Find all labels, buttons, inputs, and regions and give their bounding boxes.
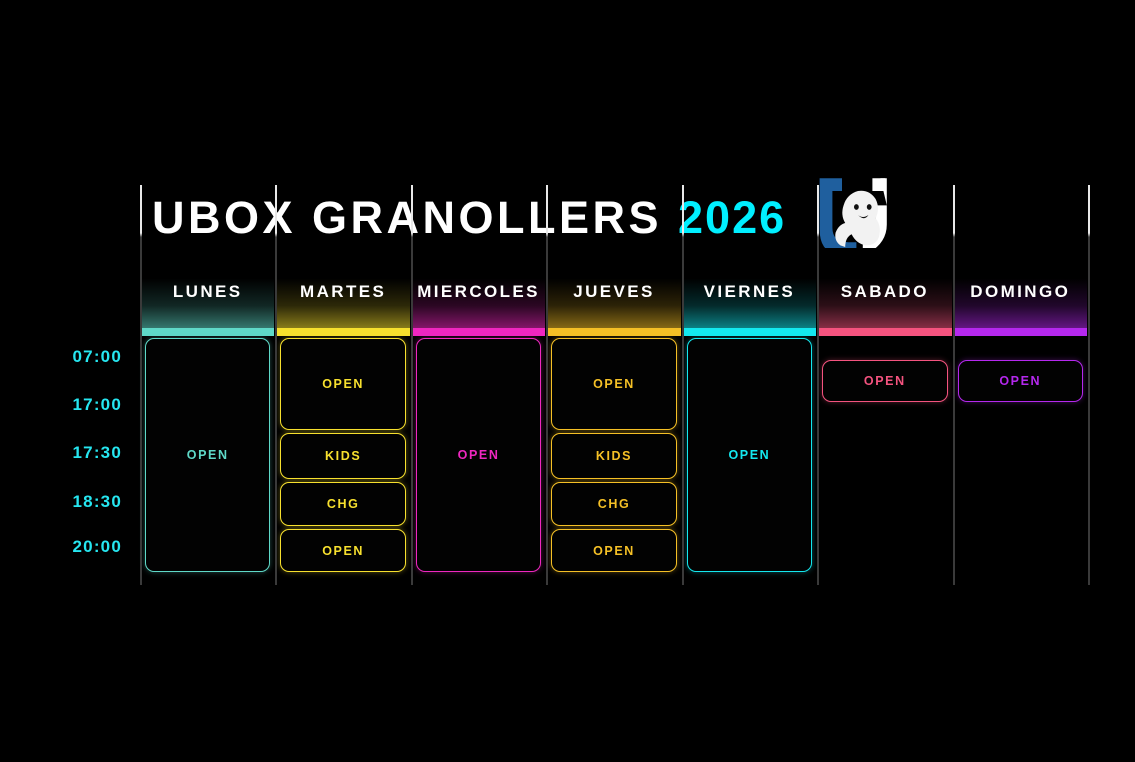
day-header-label: VIERNES	[704, 282, 795, 302]
column-separator	[1088, 185, 1090, 585]
day-header-label: JUEVES	[573, 282, 655, 302]
day-header-lunes[interactable]: LUNES	[140, 248, 275, 336]
column-separator	[817, 185, 819, 585]
schedule-slot-label: OPEN	[593, 544, 635, 558]
schedule-slot[interactable]: CHG	[551, 482, 676, 526]
day-color-bar	[954, 328, 1087, 336]
day-color-bar	[276, 328, 409, 336]
schedule-slot[interactable]: KIDS	[280, 433, 405, 479]
schedule-slot[interactable]: OPEN	[145, 338, 270, 572]
day-header-domingo[interactable]: DOMINGO	[953, 248, 1088, 336]
schedule-slot[interactable]: OPEN	[416, 338, 541, 572]
schedule-slot-label: OPEN	[187, 448, 229, 462]
time-label: 07:00	[0, 348, 122, 365]
ubox-gorilla-logo-icon	[810, 175, 890, 259]
time-label: 17:00	[0, 396, 122, 413]
schedule-slot-label: KIDS	[596, 449, 632, 463]
day-column-jueves: OPENKIDSCHGOPEN	[546, 338, 681, 572]
day-header-row: LUNESMARTESMIERCOLESJUEVESVIERNESSABADOD…	[140, 248, 1088, 336]
day-column-domingo: OPEN	[953, 338, 1088, 572]
schedule-slot[interactable]: OPEN	[280, 338, 405, 430]
schedule-slot[interactable]: OPEN	[687, 338, 812, 572]
day-column-viernes: OPEN	[682, 338, 817, 572]
schedule-slot[interactable]: OPEN	[280, 529, 405, 572]
day-header-label: DOMINGO	[970, 282, 1070, 302]
day-header-label: MIERCOLES	[417, 282, 540, 302]
day-color-bar	[683, 328, 816, 336]
day-header-viernes[interactable]: VIERNES	[682, 248, 817, 336]
day-column-martes: OPENKIDSCHGOPEN	[275, 338, 410, 572]
weekly-schedule-grid: LUNESMARTESMIERCOLESJUEVESVIERNESSABADOD…	[140, 248, 1088, 585]
page-title-main: UBOX GRANOLLERS	[152, 192, 662, 243]
column-separator	[546, 185, 548, 585]
page-title-year: 2026	[678, 192, 786, 243]
schedule-slot-label: OPEN	[322, 544, 364, 558]
day-color-bar	[412, 328, 545, 336]
schedule-slot-label: CHG	[327, 497, 360, 511]
page-title: UBOX GRANOLLERS 2026	[152, 195, 786, 240]
day-header-martes[interactable]: MARTES	[275, 248, 410, 336]
schedule-slot[interactable]: OPEN	[822, 360, 947, 402]
column-separator	[953, 185, 955, 585]
day-color-bar	[818, 328, 951, 336]
column-separator	[682, 185, 684, 585]
day-header-sabado[interactable]: SABADO	[817, 248, 952, 336]
day-body-row: OPENOPENKIDSCHGOPENOPENOPENKIDSCHGOPENOP…	[140, 338, 1088, 572]
schedule-slot[interactable]: OPEN	[551, 529, 676, 572]
schedule-slot-label: OPEN	[458, 448, 500, 462]
column-separator	[411, 185, 413, 585]
page-title-row: UBOX GRANOLLERS 2026	[152, 186, 890, 248]
day-color-bar	[547, 328, 680, 336]
schedule-slot[interactable]: OPEN	[551, 338, 676, 430]
time-label: 18:30	[0, 493, 122, 510]
schedule-slot-label: OPEN	[728, 448, 770, 462]
schedule-slot-label: OPEN	[593, 377, 635, 391]
column-separator	[275, 185, 277, 585]
schedule-slot-label: OPEN	[864, 374, 906, 388]
day-column-sabado: OPEN	[817, 338, 952, 572]
column-separator	[140, 185, 142, 585]
day-header-miercoles[interactable]: MIERCOLES	[411, 248, 546, 336]
schedule-slot[interactable]: CHG	[280, 482, 405, 526]
day-header-label: MARTES	[300, 282, 386, 302]
day-header-label: SABADO	[841, 282, 929, 302]
schedule-slot[interactable]: KIDS	[551, 433, 676, 479]
schedule-slot-label: CHG	[598, 497, 631, 511]
day-header-label: LUNES	[173, 282, 243, 302]
schedule-slot-label: OPEN	[999, 374, 1041, 388]
time-label: 17:30	[0, 444, 122, 461]
day-column-miercoles: OPEN	[411, 338, 546, 572]
schedule-slot-label: OPEN	[322, 377, 364, 391]
time-label: 20:00	[0, 538, 122, 555]
day-color-bar	[141, 328, 274, 336]
day-column-lunes: OPEN	[140, 338, 275, 572]
schedule-slot[interactable]: OPEN	[958, 360, 1083, 402]
schedule-slot-label: KIDS	[325, 449, 361, 463]
day-header-jueves[interactable]: JUEVES	[546, 248, 681, 336]
time-axis: 07:0017:0017:3018:3020:00	[0, 338, 122, 578]
